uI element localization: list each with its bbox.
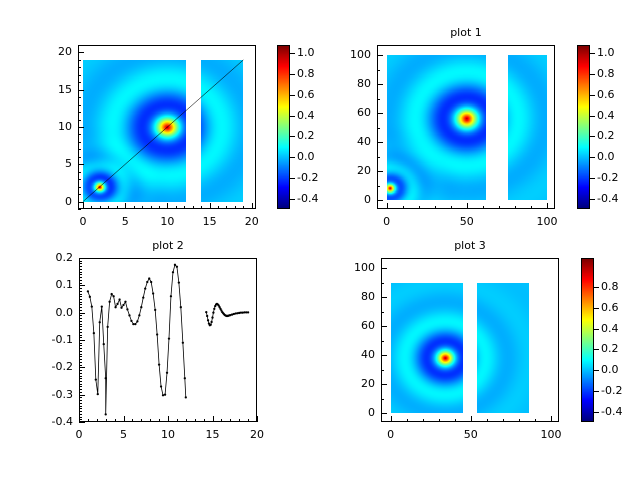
- plot-top-right-ytick: [377, 200, 383, 201]
- plot-top-right-ytick: [377, 113, 383, 114]
- plot-bottom-left-ytick-minor: [79, 337, 82, 338]
- plot-bottom-left-xtick-minor: [186, 419, 187, 422]
- plot-top-left-xtick-minor: [134, 206, 135, 209]
- plot-top-right-ytick: [377, 84, 383, 85]
- plot-top-right-title: plot 1: [377, 26, 555, 39]
- plot-bottom-left-ytick-minor: [79, 294, 82, 295]
- plot-top-right-colorbar[interactable]: [577, 45, 590, 209]
- plot-bottom-right-xtick: [551, 416, 552, 422]
- plot-top-right-xtick-minor: [419, 206, 420, 209]
- plot-bottom-left-ytick-minor: [79, 269, 82, 270]
- plot-bottom-right-yticklabel: 40: [337, 348, 375, 361]
- plot-top-left-colorbar-ticklabel: -0.4: [297, 192, 318, 205]
- plot-top-left-ytick-minor: [78, 149, 81, 150]
- plot-bottom-right-colorbar-ticklabel: 0.2: [601, 342, 619, 355]
- plot-bottom-right-ytick-minor: [381, 312, 384, 313]
- plot-bottom-left-ytick-minor: [79, 321, 82, 322]
- plot-bottom-left-ytick-minor: [79, 411, 82, 412]
- plot-top-right-colorbar-gradient: [578, 46, 589, 208]
- plot-top-left-xticklabel: 0: [63, 215, 103, 228]
- plot-top-left-xtick-minor: [235, 206, 236, 209]
- plot-bottom-left-ytick: [79, 422, 85, 423]
- plot-bottom-left-ytick-minor: [79, 400, 82, 401]
- plot-bottom-left-ytick-minor: [79, 362, 82, 363]
- plot-top-left-ytick-minor: [78, 179, 81, 180]
- plot-bottom-left-ytick-minor: [79, 417, 82, 418]
- plot-top-left-xtick-minor: [176, 206, 177, 209]
- plot-top-left-yticklabel: 10: [34, 120, 72, 133]
- plot-top-left-colorbar-tick: [290, 53, 295, 54]
- plot-bottom-left-xtick-minor: [195, 419, 196, 422]
- plot-bottom-left-ytick-minor: [79, 354, 82, 355]
- plot-top-left-colorbar-ticklabel: 0.6: [297, 88, 315, 101]
- plot-bottom-left-ytick: [79, 367, 85, 368]
- plot-top-left-ytick-minor: [78, 142, 81, 143]
- plot-top-right-colorbar-tick: [590, 95, 595, 96]
- plot-bottom-right-xtick-minor: [423, 419, 424, 422]
- plot-bottom-left-ytick-minor: [79, 381, 82, 382]
- plot-bottom-right-ytick: [381, 413, 387, 414]
- plot-top-right-xtick-minor: [483, 206, 484, 209]
- plot-top-left-xticklabel: 20: [232, 215, 272, 228]
- plot-top-left-ytick-minor: [78, 97, 81, 98]
- plot-top-left-xtick: [125, 203, 126, 209]
- plot-top-right-colorbar-tick: [590, 178, 595, 179]
- plot-bottom-left-ytick-minor: [79, 304, 82, 305]
- plot-top-left-colorbar-ticklabel: 0.0: [297, 150, 315, 163]
- plot-bottom-right-xtick-minor: [439, 419, 440, 422]
- plot-bottom-left-ytick-minor: [79, 280, 82, 281]
- plot-bottom-left-yticklabel: -0.3: [35, 388, 73, 401]
- plot-top-left-xtick-minor: [184, 206, 185, 209]
- plot-top-left-colorbar-tick: [290, 95, 295, 96]
- plot-top-right-ytick-minor: [377, 157, 380, 158]
- plot-top-right-yticklabel: 60: [333, 106, 371, 119]
- plot-bottom-left-ytick-minor: [79, 335, 82, 336]
- plot-top-right-yticklabel: 20: [333, 164, 371, 177]
- plot-top-right-xtick: [547, 203, 548, 209]
- plot-bottom-left-ytick-minor: [79, 419, 82, 420]
- plot-top-left-yticklabel: 5: [34, 157, 72, 170]
- plot-top-left-ytick-minor: [78, 194, 81, 195]
- plot-bottom-left-xtick-minor: [141, 419, 142, 422]
- plot-top-left-ytick-minor: [78, 67, 81, 68]
- plot-top-left-colorbar-ticklabel: -0.2: [297, 171, 318, 184]
- plot-top-left-ytick: [78, 52, 84, 53]
- plot-bottom-right-ytick: [381, 326, 387, 327]
- plot-bottom-left-xticklabel: 15: [193, 428, 233, 441]
- plot-bottom-left-ytick-minor: [79, 299, 82, 300]
- plot-bottom-left-xtick-minor: [221, 419, 222, 422]
- plot-bottom-left-ytick-minor: [79, 272, 82, 273]
- plot-top-right-xtick-minor: [499, 206, 500, 209]
- plot-bottom-left-ytick-minor: [79, 291, 82, 292]
- plot-top-left-ytick-minor: [78, 112, 81, 113]
- plot-bottom-left-xtick: [168, 416, 169, 422]
- plot-top-left-colorbar-tick: [290, 116, 295, 117]
- plot-bottom-left-ytick-minor: [79, 408, 82, 409]
- plot-bottom-right-colorbar-tick: [594, 287, 599, 288]
- plot-bottom-left-ytick-minor: [79, 378, 82, 379]
- plot-bottom-left-ytick-minor: [79, 414, 82, 415]
- plot-bottom-left-xtick: [257, 416, 258, 422]
- plot-bottom-left-ytick: [79, 340, 85, 341]
- plot-top-left-xtick-minor: [218, 206, 219, 209]
- plot-top-right-yticklabel: 40: [333, 135, 371, 148]
- plot-top-right-ytick: [377, 171, 383, 172]
- plot-top-left-xtick-minor: [142, 206, 143, 209]
- plot-bottom-right-xticklabel: 100: [531, 428, 571, 441]
- plot-bottom-right-ytick: [381, 355, 387, 356]
- plot-bottom-left-ytick-minor: [79, 397, 82, 398]
- plot-bottom-right-ytick-minor: [381, 283, 384, 284]
- plot-bottom-left-yticklabel: 0.1: [35, 278, 73, 291]
- plot-bottom-right-xtick: [471, 416, 472, 422]
- plot-bottom-left-yticklabel: 0.0: [35, 306, 73, 319]
- plot-bottom-left-ytick-minor: [79, 370, 82, 371]
- plot-top-left-ytick: [78, 90, 84, 91]
- plot-bottom-left-ytick-minor: [79, 348, 82, 349]
- plot-bottom-right-ytick: [381, 268, 387, 269]
- plot-bottom-right-colorbar-ticklabel: 0.0: [601, 363, 619, 376]
- plot-top-right-xtick: [387, 203, 388, 209]
- plot-bottom-left-xtick-minor: [248, 419, 249, 422]
- plot-top-right-image-patch: [387, 55, 486, 200]
- plot-top-left-ytick-minor: [78, 45, 81, 46]
- plot-top-left-xtick: [83, 203, 84, 209]
- plot-top-right-colorbar-tick: [590, 53, 595, 54]
- plot-bottom-right-colorbar-tick: [594, 391, 599, 392]
- plot-top-right-ytick-minor: [377, 186, 380, 187]
- plot-bottom-right-xticklabel: 0: [371, 428, 411, 441]
- plot-bottom-left-ytick-minor: [79, 263, 82, 264]
- plot-bottom-right-colorbar-ticklabel: -0.4: [601, 405, 622, 418]
- plot-top-left-colorbar-tick: [290, 157, 295, 158]
- plot-top-left-xticklabel: 5: [105, 215, 145, 228]
- plot-bottom-left-ytick-minor: [79, 318, 82, 319]
- plot-bottom-left-ytick-minor: [79, 266, 82, 267]
- plot-bottom-right-colorbar-tick: [594, 370, 599, 371]
- plot-top-left-colorbar-ticklabel: 1.0: [297, 46, 315, 59]
- plot-bottom-right-ytick-minor: [381, 341, 384, 342]
- plot-top-left-colorbar-tick: [290, 74, 295, 75]
- plot-top-right-colorbar-ticklabel: 0.4: [597, 109, 615, 122]
- plot-bottom-right-xticklabel: 50: [451, 428, 491, 441]
- plot-bottom-left-yticklabel: -0.2: [35, 360, 73, 373]
- plot-bottom-left-yticklabel: -0.4: [35, 415, 73, 428]
- plot-top-right-colorbar-tick: [590, 136, 595, 137]
- plot-bottom-left-xtick-minor: [150, 419, 151, 422]
- plot-bottom-left-ytick-minor: [79, 261, 82, 262]
- plot-top-left-xtick-minor: [100, 206, 101, 209]
- plot-bottom-left-xtick-minor: [159, 419, 160, 422]
- plot-bottom-right-yticklabel: 80: [337, 290, 375, 303]
- plot-bottom-right-xtick: [391, 416, 392, 422]
- plot-bottom-left-xtick-minor: [88, 419, 89, 422]
- plot-top-left-colorbar-tick: [290, 178, 295, 179]
- plot-top-left-ytick-minor: [78, 209, 81, 210]
- plot-top-right-image-patch: [508, 55, 547, 200]
- plot-bottom-left-ytick-minor: [79, 365, 82, 366]
- plot-top-right-xtick-minor: [435, 206, 436, 209]
- plot-bottom-left-ytick-minor: [79, 376, 82, 377]
- plot-top-right-colorbar-ticklabel: 0.8: [597, 67, 615, 80]
- plot-top-right-ytick: [377, 142, 383, 143]
- plot-top-left-xticklabel: 15: [190, 215, 230, 228]
- plot-top-left-ytick-minor: [78, 172, 81, 173]
- plot-bottom-right-xtick-minor: [407, 419, 408, 422]
- plot-bottom-left-ytick: [79, 258, 85, 259]
- plot-bottom-left-ytick-minor: [79, 329, 82, 330]
- plot-bottom-left-xtick: [124, 416, 125, 422]
- plot-bottom-left-title: plot 2: [79, 239, 257, 252]
- plot-top-left-xtick: [252, 203, 253, 209]
- plot-bottom-left-ytick-minor: [79, 288, 82, 289]
- plot-bottom-left-ytick-minor: [79, 343, 82, 344]
- plot-bottom-left-ytick-minor: [79, 324, 82, 325]
- plot-top-left-xtick-minor: [117, 206, 118, 209]
- plot-top-left-colorbar-tick: [290, 199, 295, 200]
- plot-bottom-left-ytick-minor: [79, 389, 82, 390]
- plot-bottom-right-colorbar-ticklabel: 0.6: [601, 301, 619, 314]
- plot-bottom-left-ytick-minor: [79, 384, 82, 385]
- plot-bottom-left-ytick: [79, 285, 85, 286]
- plot-bottom-right-xtick-minor: [535, 419, 536, 422]
- plot-bottom-left-xtick-minor: [97, 419, 98, 422]
- plot-bottom-left-ytick-minor: [79, 302, 82, 303]
- plot-top-right-colorbar-ticklabel: 1.0: [597, 46, 615, 59]
- plot-top-right-yticklabel: 0: [333, 193, 371, 206]
- plot-bottom-left-xtick-minor: [204, 419, 205, 422]
- plot-top-right-ytick-minor: [377, 70, 380, 71]
- plot-bottom-right-colorbar-gradient: [582, 259, 593, 421]
- plot-bottom-right-xtick-minor: [487, 419, 488, 422]
- plot-bottom-right-title: plot 3: [381, 239, 559, 252]
- plot-top-left-ytick: [78, 202, 84, 203]
- plot-bottom-left-ytick-minor: [79, 403, 82, 404]
- plot-bottom-left-ytick-minor: [79, 359, 82, 360]
- plot-bottom-left-xticklabel: 20: [237, 428, 277, 441]
- plot-bottom-left-xticklabel: 10: [148, 428, 188, 441]
- plot-top-right-xtick: [467, 203, 468, 209]
- plot-bottom-left-yticklabel: -0.1: [35, 333, 73, 346]
- plot-bottom-right-image-patch: [477, 283, 529, 413]
- plot-top-left-ytick: [78, 127, 84, 128]
- plot-bottom-left-xtick-minor: [239, 419, 240, 422]
- plot-top-left-xtick-minor: [108, 206, 109, 209]
- plot-top-left-xtick-minor: [226, 206, 227, 209]
- plot-top-right-colorbar-tick: [590, 116, 595, 117]
- plot-top-left-colorbar-tick: [290, 136, 295, 137]
- plot-top-right-colorbar-tick: [590, 157, 595, 158]
- plot-top-left-ytick-minor: [78, 187, 81, 188]
- plot-top-right-xticklabel: 100: [527, 215, 567, 228]
- plot-top-right-xtick-minor: [515, 206, 516, 209]
- plot-bottom-left-xtick-minor: [115, 419, 116, 422]
- plot-bottom-right-colorbar-tick: [594, 412, 599, 413]
- plot-bottom-left-ytick-minor: [79, 326, 82, 327]
- plot-top-left-xtick-minor: [201, 206, 202, 209]
- plot-top-right-colorbar-ticklabel: -0.4: [597, 192, 618, 205]
- plot-top-left-ytick-minor: [78, 82, 81, 83]
- plot-top-left-xtick: [210, 203, 211, 209]
- plot-bottom-left-ytick-minor: [79, 332, 82, 333]
- plot-bottom-right-colorbar-ticklabel: -0.2: [601, 384, 622, 397]
- plot-bottom-left-ytick-minor: [79, 356, 82, 357]
- plot-bottom-left-ytick-minor: [79, 351, 82, 352]
- plot-top-left-xtick-minor: [159, 206, 160, 209]
- plot-top-left-colorbar-ticklabel: 0.8: [297, 67, 315, 80]
- plot-bottom-left-xtick-minor: [106, 419, 107, 422]
- plot-top-left-xtick-minor: [91, 206, 92, 209]
- plot-bottom-right-colorbar-ticklabel: 0.8: [601, 280, 619, 293]
- plot-bottom-left-ytick-minor: [79, 392, 82, 393]
- plot-bottom-left-ytick-minor: [79, 310, 82, 311]
- plot-top-left-colorbar[interactable]: [277, 45, 290, 209]
- plot-bottom-right-colorbar-tick: [594, 349, 599, 350]
- plot-top-right-ytick: [377, 55, 383, 56]
- plot-bottom-right-ytick-minor: [381, 370, 384, 371]
- plot-top-left-xtick: [167, 203, 168, 209]
- plot-bottom-right-colorbar-ticklabel: 0.4: [601, 322, 619, 335]
- plot-bottom-left-ytick: [79, 395, 85, 396]
- plot-bottom-right-colorbar-tick: [594, 329, 599, 330]
- plot-bottom-left-ytick-minor: [79, 406, 82, 407]
- plot-top-left-yticklabel: 15: [34, 83, 72, 96]
- plot-bottom-left-ytick-minor: [79, 274, 82, 275]
- plot-top-left-ytick-minor: [78, 75, 81, 76]
- plot-top-right-xticklabel: 0: [367, 215, 407, 228]
- plot-bottom-right-yticklabel: 0: [337, 406, 375, 419]
- plot-top-left-ytick-minor: [78, 105, 81, 106]
- plot-top-right-colorbar-ticklabel: 0.6: [597, 88, 615, 101]
- plot-bottom-right-colorbar-tick: [594, 308, 599, 309]
- plot-top-left-xtick-minor: [151, 206, 152, 209]
- plot-bottom-left-ytick-minor: [79, 283, 82, 284]
- plot-top-right-xtick-minor: [531, 206, 532, 209]
- plot-bottom-left-ytick-minor: [79, 386, 82, 387]
- plot-bottom-left-line-series: [79, 258, 257, 422]
- plot-top-left-ytick-minor: [78, 60, 81, 61]
- plot-top-right-xticklabel: 50: [447, 215, 487, 228]
- plot-top-right-ytick-minor: [377, 128, 380, 129]
- plot-bottom-left-ytick-minor: [79, 277, 82, 278]
- plot-top-left-ytick-minor: [78, 157, 81, 158]
- plot-bottom-right-image-patch: [391, 283, 463, 413]
- plot-top-left-xtick-minor: [193, 206, 194, 209]
- plot-top-left-overlay-line: [78, 45, 256, 209]
- plot-bottom-right-yticklabel: 100: [337, 261, 375, 274]
- plot-bottom-right-xtick-minor: [503, 419, 504, 422]
- plot-top-right-colorbar-tick: [590, 74, 595, 75]
- plot-bottom-left-xtick-minor: [132, 419, 133, 422]
- plot-bottom-left-yticklabel: 0.2: [35, 251, 73, 264]
- plot-bottom-right-xtick-minor: [455, 419, 456, 422]
- plot-bottom-left-ytick-minor: [79, 315, 82, 316]
- plot-bottom-right-ytick: [381, 297, 387, 298]
- plot-top-right-colorbar-ticklabel: 0.0: [597, 150, 615, 163]
- plot-bottom-right-yticklabel: 20: [337, 377, 375, 390]
- plot-bottom-left-xtick: [213, 416, 214, 422]
- plot-top-left-ytick-minor: [78, 120, 81, 121]
- plot-bottom-left-ytick: [79, 313, 85, 314]
- plot-bottom-left-xtick-minor: [230, 419, 231, 422]
- plot-top-right-xtick-minor: [451, 206, 452, 209]
- plot-bottom-left-ytick-minor: [79, 345, 82, 346]
- plot-top-left-colorbar-ticklabel: 0.4: [297, 109, 315, 122]
- plot-top-left-colorbar-ticklabel: 0.2: [297, 129, 315, 142]
- plot-bottom-right-ytick: [381, 384, 387, 385]
- plot-top-left-ytick-minor: [78, 134, 81, 135]
- plot-top-left-xticklabel: 10: [147, 215, 187, 228]
- plot-bottom-left-ytick-minor: [79, 296, 82, 297]
- plot-bottom-right-xtick-minor: [519, 419, 520, 422]
- plot-bottom-left-xticklabel: 5: [104, 428, 144, 441]
- plot-top-left-yticklabel: 20: [34, 45, 72, 58]
- plot-bottom-left-xtick-minor: [177, 419, 178, 422]
- plot-top-right-yticklabel: 80: [333, 77, 371, 90]
- plot-top-left-ytick: [78, 164, 84, 165]
- plot-bottom-right-ytick-minor: [381, 399, 384, 400]
- plot-top-right-xtick-minor: [403, 206, 404, 209]
- plot-top-right-ytick-minor: [377, 99, 380, 100]
- plot-top-right-colorbar-ticklabel: -0.2: [597, 171, 618, 184]
- plot-top-right-colorbar-ticklabel: 0.2: [597, 129, 615, 142]
- plot-bottom-left-ytick-minor: [79, 307, 82, 308]
- plot-top-left-xtick-minor: [243, 206, 244, 209]
- plot-top-right-yticklabel: 100: [333, 48, 371, 61]
- plot-bottom-right-colorbar[interactable]: [581, 258, 594, 422]
- plot-top-right-colorbar-tick: [590, 199, 595, 200]
- plot-bottom-left-xticklabel: 0: [59, 428, 99, 441]
- plot-bottom-left-ytick-minor: [79, 373, 82, 374]
- plot-top-left-yticklabel: 0: [34, 195, 72, 208]
- plot-top-left-colorbar-gradient: [278, 46, 289, 208]
- plot-bottom-right-yticklabel: 60: [337, 319, 375, 332]
